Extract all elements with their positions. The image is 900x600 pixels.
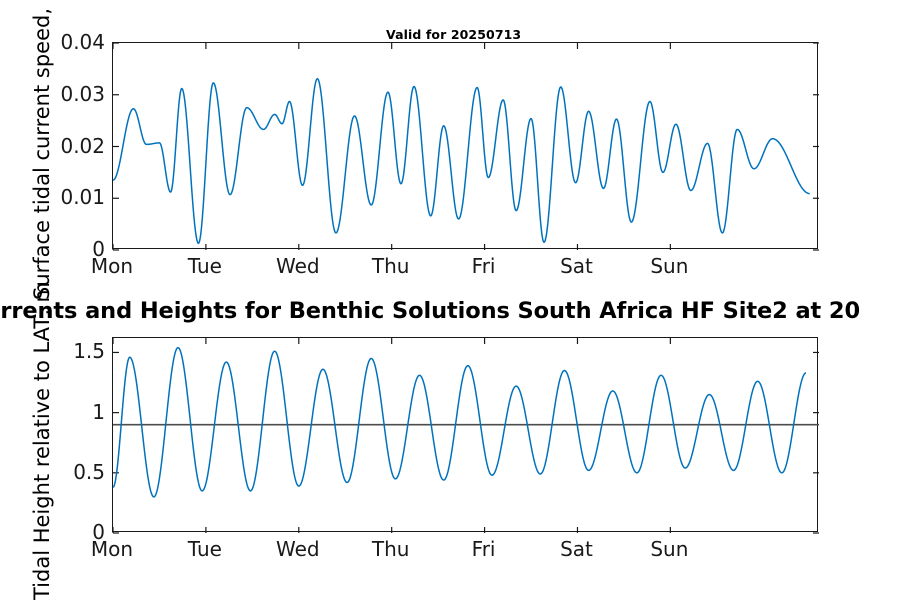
bottom-panel-plot [113, 338, 819, 533]
bottom_panel-ytick-2: 1 [92, 400, 105, 424]
top_panel-xtick-sat: Sat [560, 254, 593, 278]
bottom_panel-ytick-0: 0 [92, 520, 105, 544]
bottom_panel-xtick-sat: Sat [560, 537, 593, 561]
top-panel-plot [113, 43, 819, 250]
top_panel-ytick-0: 0 [92, 237, 105, 261]
top_panel-ytick-1: 0.01 [60, 185, 105, 209]
bottom_panel-xtick-sun: Sun [650, 537, 688, 561]
figure-main-title: Currents and Heights for Benthic Solutio… [0, 298, 900, 324]
bottom_panel-xtick-thu: Thu [372, 537, 410, 561]
bottom_panel-xtick-fri: Fri [472, 537, 496, 561]
data-line [113, 348, 806, 497]
bottom_panel-xtick-tue: Tue [188, 537, 222, 561]
top-panel-title: Valid for 20250713 [386, 27, 521, 42]
tidal-currents-figure: Currents and Heights for Benthic Solutio… [0, 0, 900, 600]
bottom_panel-ytick-1: 0.5 [73, 460, 105, 484]
top_panel-xtick-tue: Tue [188, 254, 222, 278]
top-panel-ylabel: Surface tidal current speed, kn [30, 0, 54, 300]
data-line [113, 79, 810, 243]
top_panel-xtick-thu: Thu [372, 254, 410, 278]
bottom-panel-axes [112, 337, 818, 532]
top_panel-xtick-sun: Sun [650, 254, 688, 278]
top_panel-ytick-3: 0.03 [60, 82, 105, 106]
bottom-panel-ylabel: Tidal Height relative to LAT, m [30, 282, 54, 600]
bottom_panel-ytick-3: 1.5 [73, 339, 105, 363]
top_panel-xtick-fri: Fri [472, 254, 496, 278]
top_panel-ytick-4: 0.04 [60, 30, 105, 54]
top-panel-axes [112, 42, 818, 249]
top_panel-ytick-2: 0.02 [60, 134, 105, 158]
bottom_panel-xtick-wed: Wed [276, 537, 320, 561]
top_panel-xtick-wed: Wed [276, 254, 320, 278]
